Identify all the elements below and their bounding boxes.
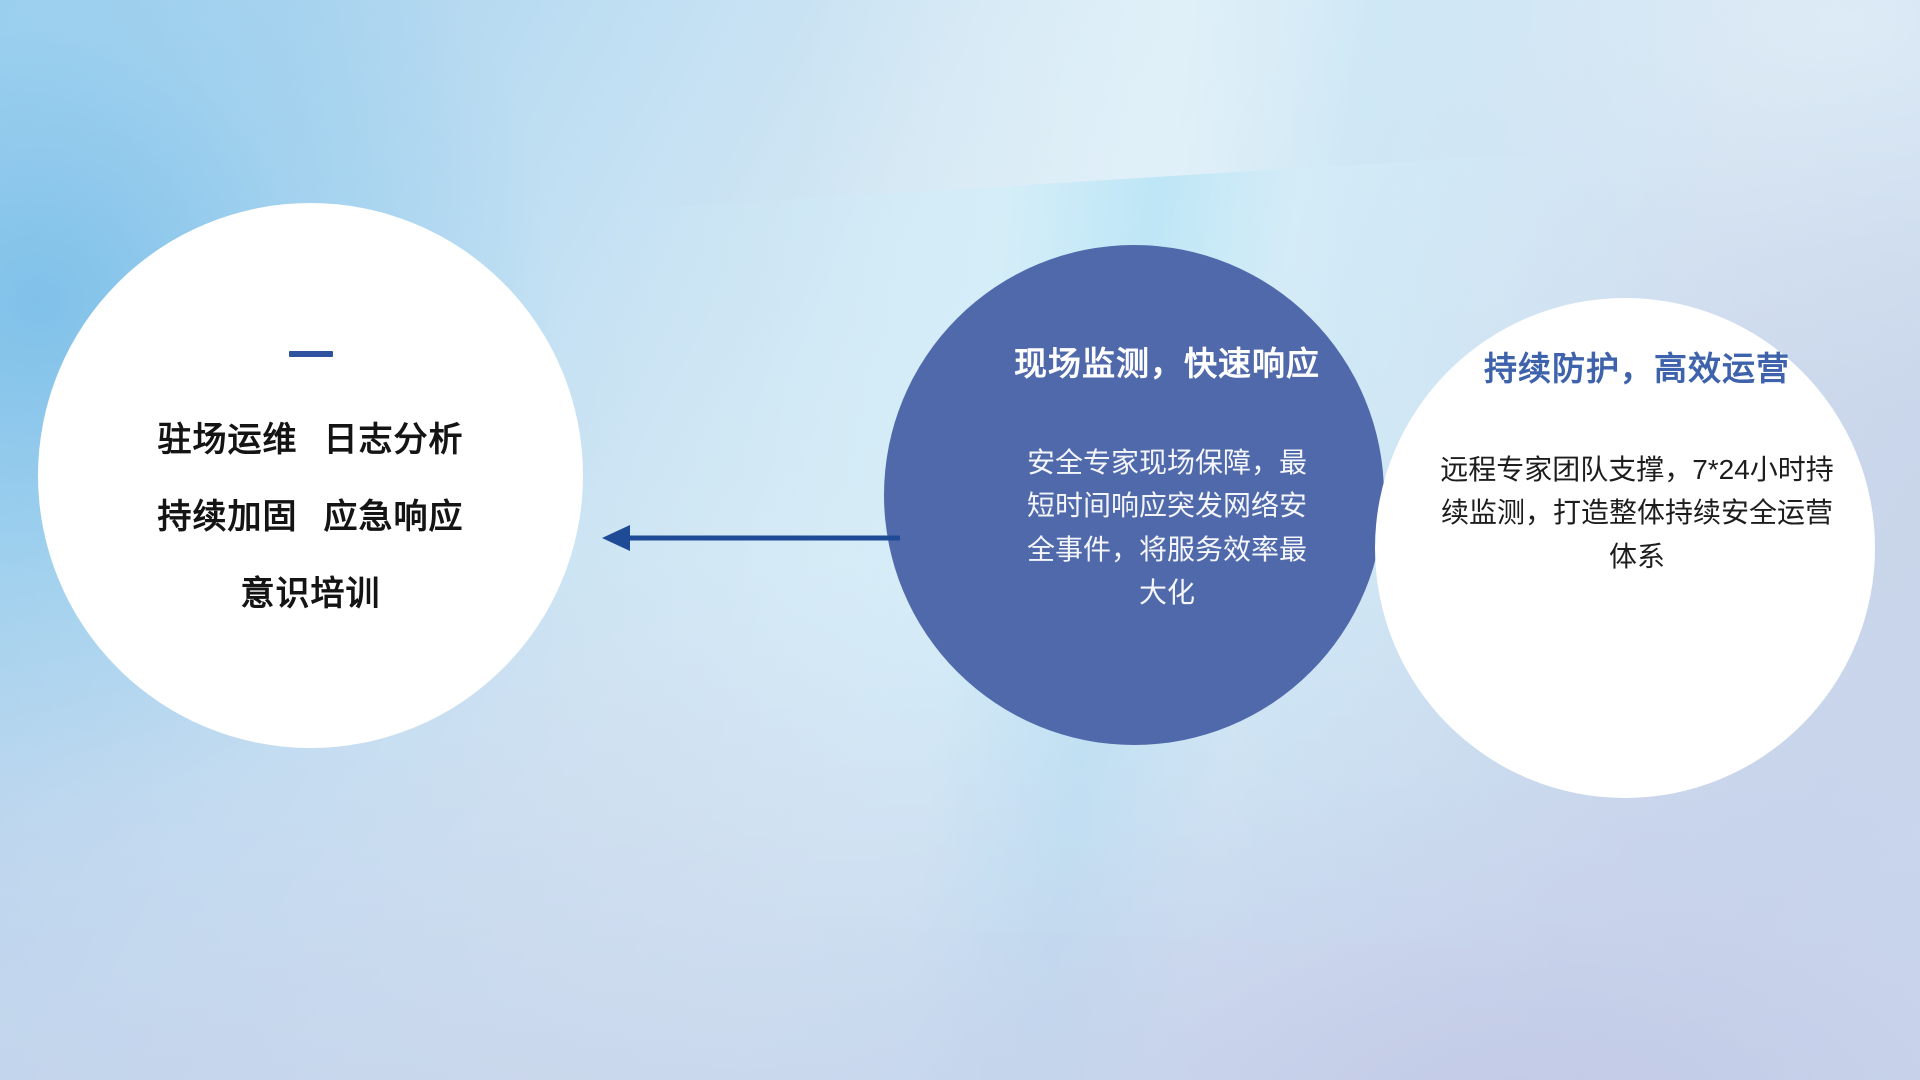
right-circle-body: 远程专家团队支撑，7*24小时持续监测，打造整体持续安全运营体系 xyxy=(1437,448,1837,578)
arrow-left-icon xyxy=(600,522,900,554)
capability-label-1b: 日志分析 xyxy=(324,421,464,459)
arrow-left-svg xyxy=(600,522,900,554)
right-circle-content: 持续防护，高效运营 远程专家团队支撑，7*24小时持续监测，打造整体持续安全运营… xyxy=(1375,298,1875,798)
right-circle-title: 持续防护，高效运营 xyxy=(1484,342,1790,390)
capability-label-2a: 持续加固 xyxy=(158,498,298,536)
slide-canvas: 驻场运维日志分析 持续加固应急响应 意识培训 现场监测，快速响应 安全专家现场保… xyxy=(0,0,1920,1080)
capability-row-3: 意识培训 xyxy=(241,577,381,611)
middle-circle-title: 现场监测，快速响应 xyxy=(1014,337,1320,385)
middle-circle-body: 安全专家现场保障，最短时间响应突发网络安全事件，将服务效率最大化 xyxy=(1017,441,1317,615)
middle-circle-content: 现场监测，快速响应 安全专家现场保障，最短时间响应突发网络安全事件，将服务效率最… xyxy=(884,245,1384,745)
left-circle-content: 驻场运维日志分析 持续加固应急响应 意识培训 xyxy=(38,203,583,748)
accent-dash xyxy=(289,351,333,357)
capability-label-3a: 意识培训 xyxy=(241,575,381,613)
capability-label-1a: 驻场运维 xyxy=(158,421,298,459)
capability-label-2b: 应急响应 xyxy=(324,498,464,536)
capability-row-2: 持续加固应急响应 xyxy=(158,500,464,534)
capability-row-1: 驻场运维日志分析 xyxy=(158,423,464,457)
